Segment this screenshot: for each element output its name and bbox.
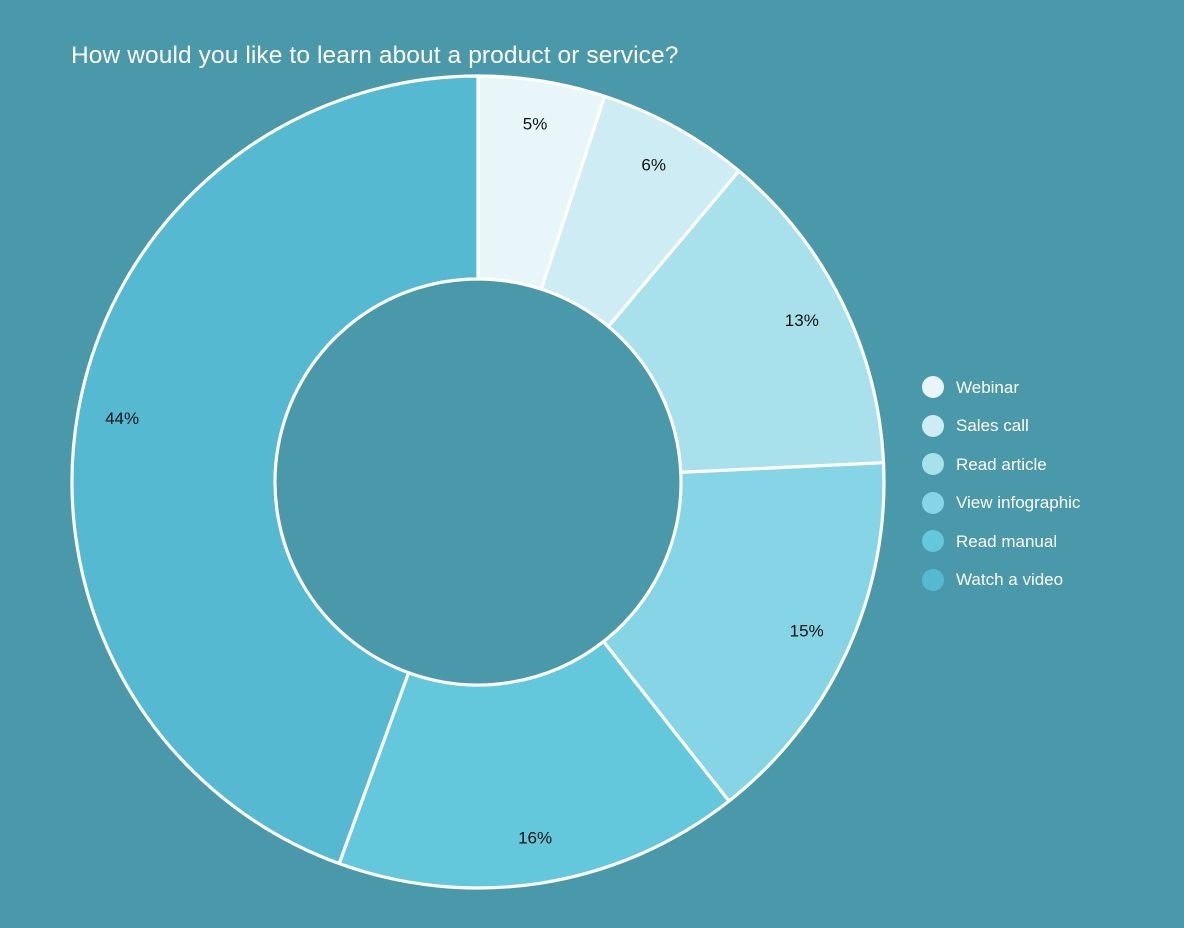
slice-value-label: 16% (518, 828, 552, 847)
legend-item[interactable]: Webinar (922, 375, 1080, 399)
chart-canvas: How would you like to learn about a prod… (0, 0, 1184, 928)
slice-value-label: 6% (641, 156, 666, 175)
legend-item[interactable]: Sales call (922, 414, 1080, 438)
legend-item-label: Read manual (956, 533, 1057, 550)
slice-value-label: 44% (105, 409, 139, 428)
legend-item[interactable]: Watch a video (922, 568, 1080, 592)
legend-swatch-icon (922, 415, 944, 437)
slice-value-label: 13% (785, 311, 819, 330)
legend-item-label: Webinar (956, 379, 1019, 396)
legend-item-label: View infographic (956, 494, 1080, 511)
legend-swatch-icon (922, 569, 944, 591)
legend-item-label: Watch a video (956, 571, 1063, 588)
legend-item[interactable]: Read article (922, 452, 1080, 476)
legend-item-label: Read article (956, 456, 1047, 473)
slices-group (72, 76, 884, 888)
legend-swatch-icon (922, 492, 944, 514)
chart-legend: WebinarSales callRead articleView infogr… (922, 375, 1080, 592)
legend-item[interactable]: Read manual (922, 529, 1080, 553)
legend-swatch-icon (922, 530, 944, 552)
legend-swatch-icon (922, 376, 944, 398)
legend-swatch-icon (922, 453, 944, 475)
legend-item[interactable]: View infographic (922, 491, 1080, 515)
slice-value-label: 15% (790, 622, 824, 641)
legend-item-label: Sales call (956, 417, 1029, 434)
slice-value-label: 5% (523, 115, 548, 134)
